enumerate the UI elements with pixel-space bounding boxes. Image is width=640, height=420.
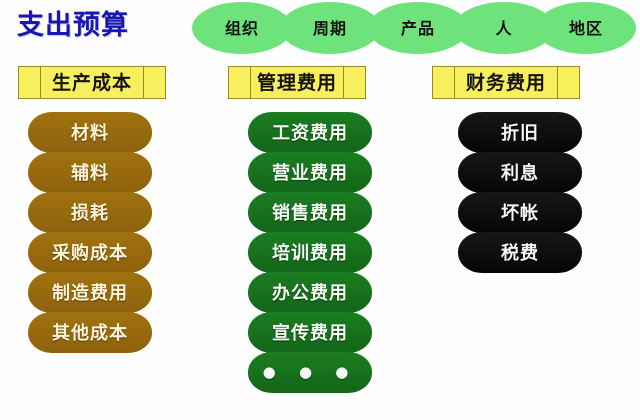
item-label: 损耗 (71, 199, 109, 225)
header-left-cell (433, 67, 455, 98)
dimension-label: 地区 (569, 15, 603, 39)
item-row[interactable]: 其他成本 (28, 312, 152, 353)
header-left-cell (229, 67, 251, 98)
item-row[interactable]: 坏帐 (458, 192, 582, 233)
item-row[interactable]: 办公费用 (248, 272, 372, 313)
item-label: 办公费用 (272, 279, 348, 305)
item-column-management: 工资费用 营业费用 销售费用 培训费用 办公费用 宣传费用 ● ● ● (248, 112, 372, 392)
item-label: 辅料 (71, 159, 109, 185)
header-center-cell: 管理费用 (251, 67, 343, 98)
category-title: 生产成本 (52, 68, 132, 95)
dimension-ellipse-region[interactable]: 地区 (536, 2, 636, 54)
dimension-label: 周期 (313, 15, 347, 39)
item-row[interactable]: 折旧 (458, 112, 582, 153)
item-label: 销售费用 (272, 199, 348, 225)
category-header-management[interactable]: 管理费用 (228, 66, 366, 99)
diagram-canvas: 支出预算 组织 周期 产品 人 地区 生产成本 管理费用 (0, 0, 640, 420)
item-row[interactable]: 销售费用 (248, 192, 372, 233)
more-items-ellipsis: ● ● ● (263, 363, 358, 381)
dimension-band: 组织 周期 产品 人 地区 (192, 2, 632, 54)
header-right-cell (343, 67, 365, 98)
item-column-production: 材料 辅料 损耗 采购成本 制造费用 其他成本 (28, 112, 152, 352)
item-row[interactable]: 利息 (458, 152, 582, 193)
dimension-ellipse-organization[interactable]: 组织 (192, 2, 292, 54)
item-label: 税费 (501, 239, 539, 265)
item-row[interactable]: 工资费用 (248, 112, 372, 153)
item-row[interactable]: 损耗 (28, 192, 152, 233)
item-row[interactable]: 宣传费用 (248, 312, 372, 353)
header-right-cell (557, 67, 579, 98)
item-label: 坏帐 (501, 199, 539, 225)
item-label: 材料 (71, 119, 109, 145)
item-label: 利息 (501, 159, 539, 185)
category-header-finance[interactable]: 财务费用 (432, 66, 580, 99)
item-row[interactable]: 税费 (458, 232, 582, 273)
header-left-cell (19, 67, 41, 98)
item-label: 其他成本 (52, 319, 128, 345)
page-title: 支出预算 (17, 9, 129, 43)
item-row[interactable]: 辅料 (28, 152, 152, 193)
category-title: 管理费用 (257, 68, 337, 95)
item-row[interactable]: 营业费用 (248, 152, 372, 193)
category-title: 财务费用 (466, 68, 546, 95)
dimension-ellipse-product[interactable]: 产品 (368, 2, 468, 54)
category-header-production[interactable]: 生产成本 (18, 66, 166, 99)
item-row[interactable]: 培训费用 (248, 232, 372, 273)
item-label: 宣传费用 (272, 319, 348, 345)
header-center-cell: 财务费用 (455, 67, 557, 98)
item-label: 制造费用 (52, 279, 128, 305)
dimension-label: 组织 (225, 15, 259, 39)
item-label: 工资费用 (272, 119, 348, 145)
item-row-more[interactable]: ● ● ● (248, 352, 372, 393)
dimension-label: 人 (495, 15, 512, 39)
item-row[interactable]: 采购成本 (28, 232, 152, 273)
dimension-ellipse-period[interactable]: 周期 (280, 2, 380, 54)
header-center-cell: 生产成本 (41, 67, 143, 98)
dimension-label: 产品 (401, 15, 435, 39)
item-column-finance: 折旧 利息 坏帐 税费 (458, 112, 582, 272)
item-row[interactable]: 制造费用 (28, 272, 152, 313)
item-label: 营业费用 (272, 159, 348, 185)
item-label: 培训费用 (272, 239, 348, 265)
item-label: 采购成本 (52, 239, 128, 265)
item-label: 折旧 (501, 119, 539, 145)
item-row[interactable]: 材料 (28, 112, 152, 153)
header-right-cell (143, 67, 165, 98)
